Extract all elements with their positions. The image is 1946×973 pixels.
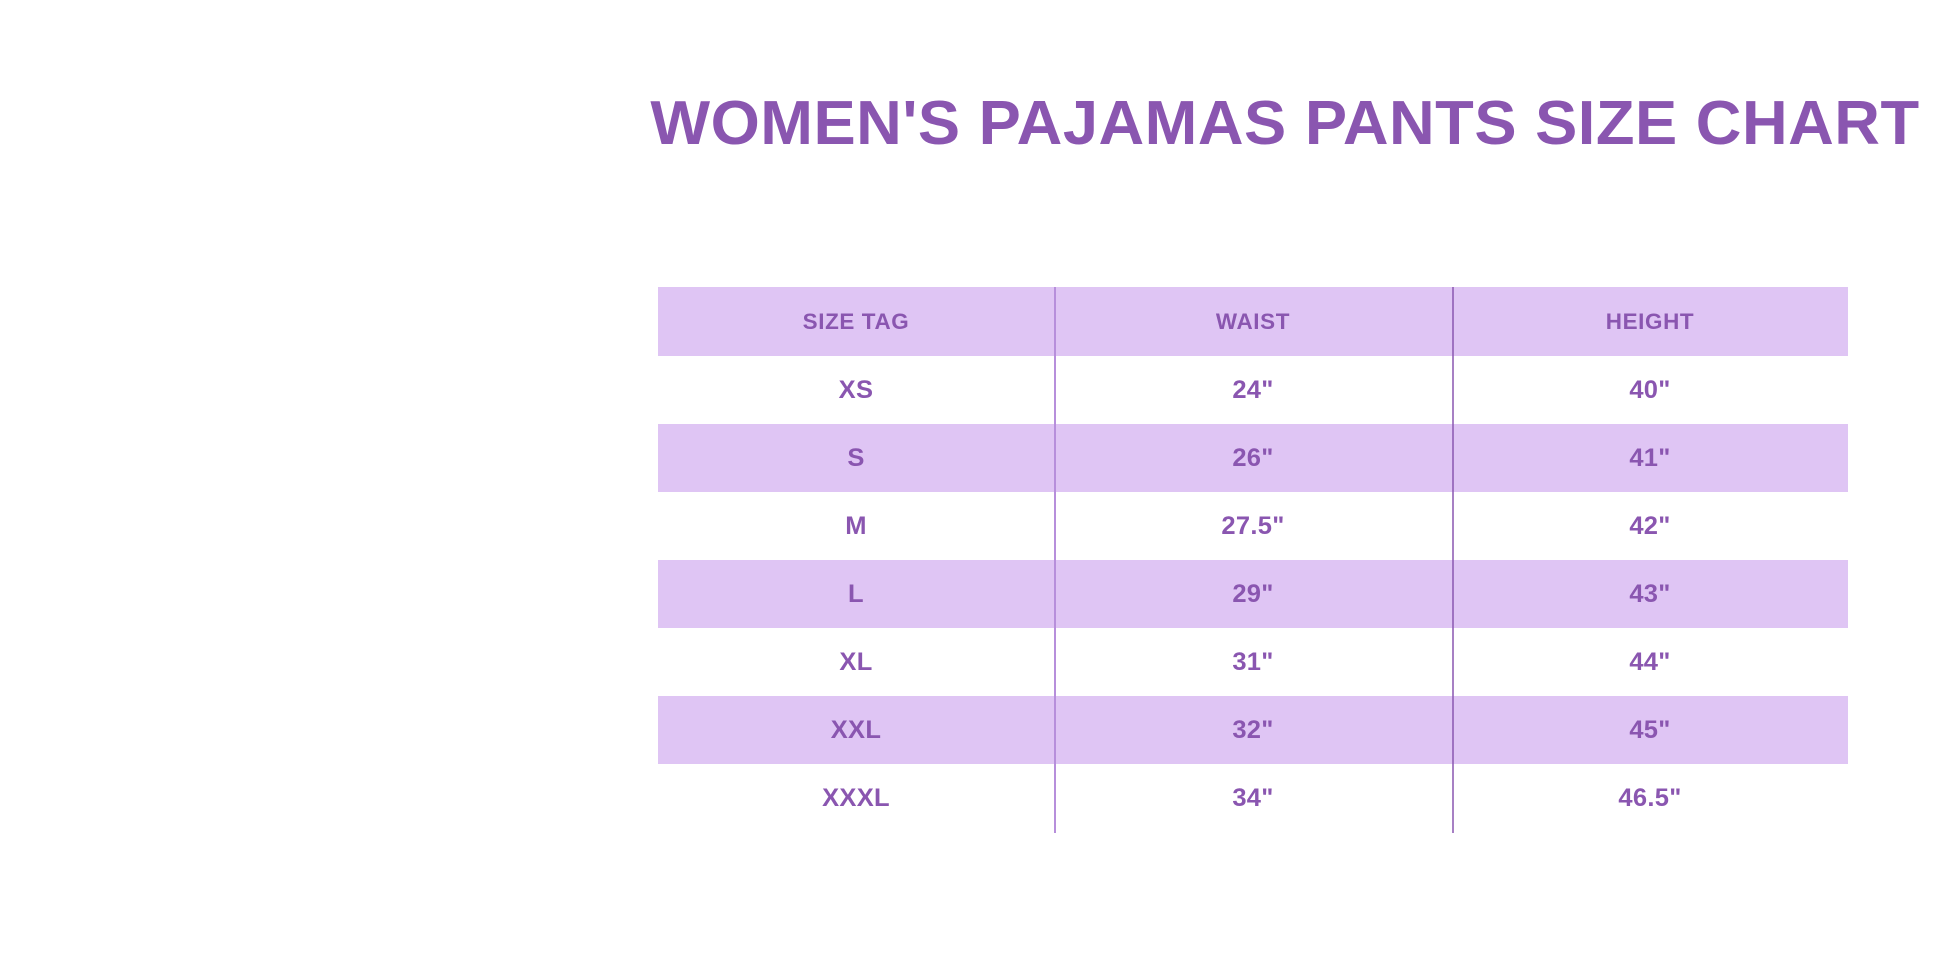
cell-size-tag: XXXL	[654, 764, 1058, 832]
cell-waist: 34"	[1050, 764, 1456, 832]
column-header-waist: WAIST	[1050, 287, 1456, 356]
cell-height: 45"	[1448, 696, 1852, 764]
cell-waist: 32"	[1050, 696, 1456, 764]
cell-height: 44"	[1448, 628, 1852, 696]
cell-height: 43"	[1448, 560, 1852, 628]
table-row: XXXL 34" 46.5"	[658, 764, 1848, 832]
cell-waist: 31"	[1050, 628, 1456, 696]
cell-height: 41"	[1448, 424, 1852, 492]
column-header-height: HEIGHT	[1448, 287, 1852, 356]
page-title: WOMEN'S PAJAMAS PANTS SIZE CHART	[645, 92, 1924, 156]
size-chart-table: SIZE TAG WAIST HEIGHT XS 24" 40" S 26" 4…	[658, 287, 1848, 832]
column-header-size-tag: SIZE TAG	[654, 287, 1058, 356]
cell-size-tag: XL	[654, 628, 1058, 696]
table-row: M 27.5" 42"	[658, 492, 1848, 560]
table-row: XL 31" 44"	[658, 628, 1848, 696]
cell-size-tag: S	[654, 424, 1058, 492]
cell-height: 40"	[1448, 356, 1852, 424]
table-header-row: SIZE TAG WAIST HEIGHT	[658, 287, 1848, 356]
table-row: XS 24" 40"	[658, 356, 1848, 424]
table-row: S 26" 41"	[658, 424, 1848, 492]
cell-size-tag: M	[654, 492, 1058, 560]
table-row: XXL 32" 45"	[658, 696, 1848, 764]
table-row: L 29" 43"	[658, 560, 1848, 628]
cell-height: 42"	[1448, 492, 1852, 560]
cell-waist: 29"	[1050, 560, 1456, 628]
size-chart-page: WOMEN'S PAJAMAS PANTS SIZE CHART SIZE TA…	[0, 0, 1946, 973]
cell-size-tag: L	[654, 560, 1058, 628]
cell-waist: 26"	[1050, 424, 1456, 492]
cell-waist: 24"	[1050, 356, 1456, 424]
cell-size-tag: XS	[654, 356, 1058, 424]
cell-waist: 27.5"	[1050, 492, 1456, 560]
cell-height: 46.5"	[1448, 764, 1852, 832]
cell-size-tag: XXL	[654, 696, 1058, 764]
